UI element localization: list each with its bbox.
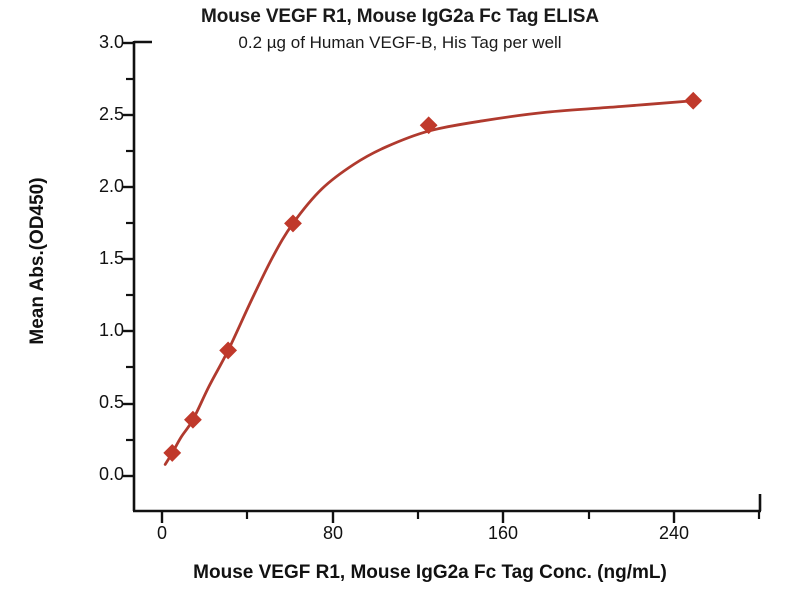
chart-container: Mouse VEGF R1, Mouse IgG2a Fc Tag ELISA … (0, 0, 800, 600)
plot-area (0, 0, 800, 600)
data-point-markers (164, 93, 701, 462)
data-point (185, 412, 201, 428)
data-point (164, 445, 180, 461)
fit-curve (165, 101, 693, 465)
y-major-ticks (122, 43, 134, 476)
data-point (220, 342, 236, 358)
data-point (685, 93, 701, 109)
